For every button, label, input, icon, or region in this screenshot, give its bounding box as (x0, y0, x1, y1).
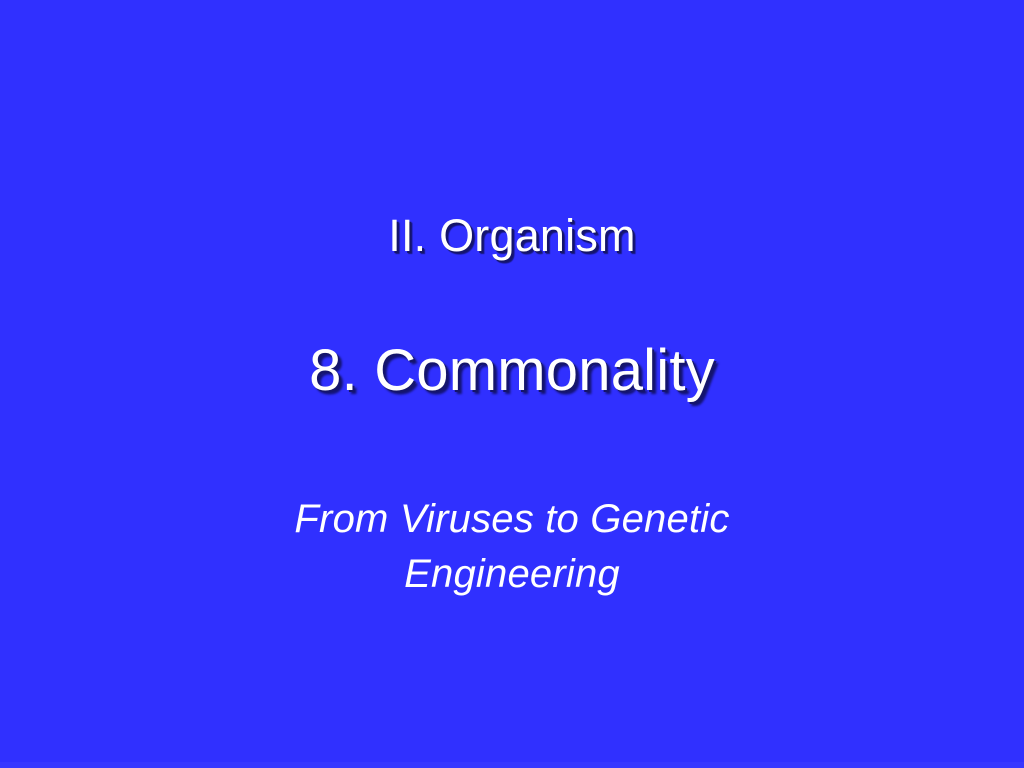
subtitle-line-1: From Viruses to Genetic (262, 492, 762, 547)
section-heading: II. Organism (0, 212, 1024, 260)
slide-title: 8. Commonality (0, 340, 1024, 401)
presentation-slide: II. Organism 8. Commonality From Viruses… (0, 0, 1024, 768)
subtitle-line-2: Engineering (262, 547, 762, 602)
slide-subtitle: From Viruses to Genetic Engineering (262, 492, 762, 602)
